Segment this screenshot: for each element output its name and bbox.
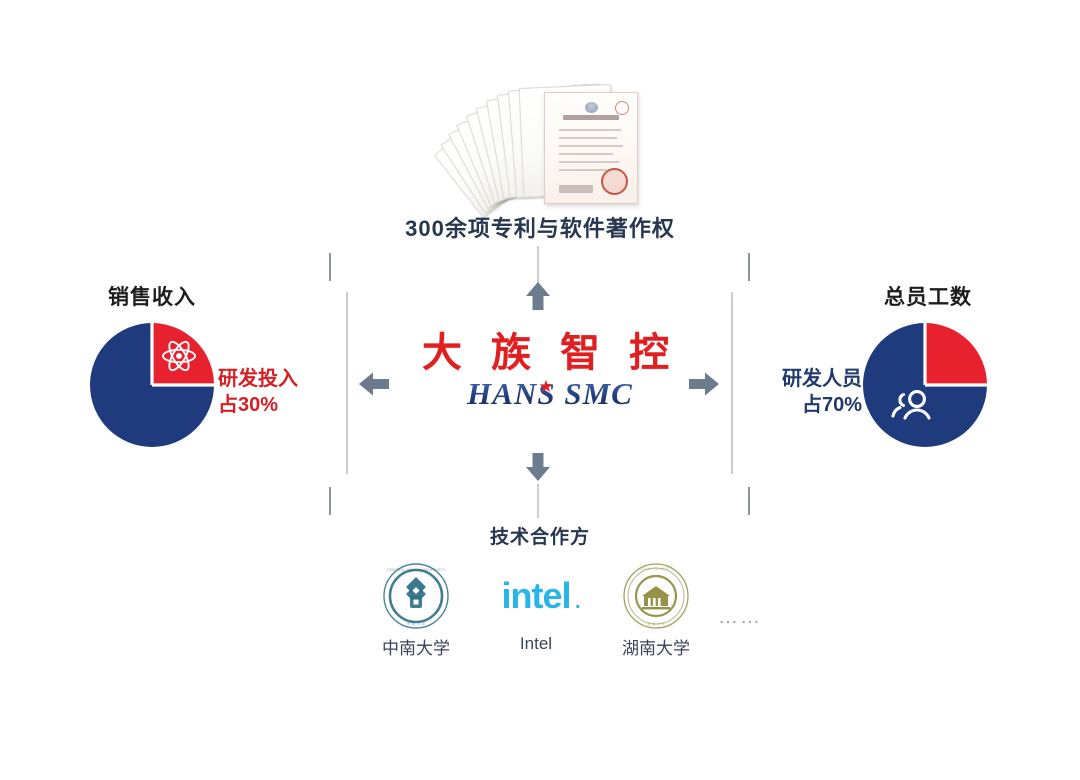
frame-line-top-center <box>537 246 539 284</box>
logo-english-name: HANS SMC ★ <box>400 376 700 416</box>
logo-english-left: HAN <box>467 376 537 411</box>
left-pie-annotation: 研发投入 占30% <box>218 366 298 419</box>
left-pie-title: 销售收入 <box>62 281 242 311</box>
certificate-emblem-icon <box>585 102 598 113</box>
partner-item-hnu[interactable]: HUNAN UNIVERSITY 湖 南 大 学 湖南大学 <box>606 560 706 659</box>
logo-chinese-name: 大 族 智 控 <box>400 332 700 374</box>
arrow-up-icon <box>524 281 552 311</box>
partner-name-hnu: 湖南大学 <box>606 634 706 659</box>
svg-text:中 南 大 学: 中 南 大 学 <box>406 620 425 626</box>
central-south-university-seal-icon: CENTRAL SOUTH UNIVERSITY 中 南 大 学 <box>366 560 466 632</box>
certificate-front-page <box>544 92 638 204</box>
pie-slice-rnd-investment <box>152 323 214 385</box>
partners-title: 技术合作方 <box>0 522 1080 549</box>
infographic-canvas: 300余项专利与软件著作权 大 族 智 控 HANS SMC ★ 销售收入 <box>0 0 1080 780</box>
frame-tick-top-left <box>329 253 331 281</box>
patents-title: 300余项专利与软件著作权 <box>0 211 1080 243</box>
svg-text:湖 南 大 学: 湖 南 大 学 <box>647 621 665 626</box>
frame-line-right <box>731 292 733 474</box>
frame-tick-bottom-left <box>329 487 331 515</box>
company-logo: 大 族 智 控 HANS SMC ★ <box>400 332 700 416</box>
certificate-red-seal-icon <box>601 168 628 195</box>
frame-line-left <box>346 292 348 474</box>
total-employees-pie-chart <box>861 321 989 449</box>
right-pie-annotation-line2: 占70% <box>752 392 862 418</box>
pie-slice-other-staff <box>925 323 987 385</box>
right-pie-annotation: 研发人员 占70% <box>752 366 862 419</box>
frame-tick-top-right <box>748 253 750 281</box>
intel-wordmark-icon: intel. <box>486 560 586 632</box>
partner-item-intel[interactable]: intel. Intel <box>486 560 586 654</box>
svg-text:CENTRAL SOUTH UNIVERSITY: CENTRAL SOUTH UNIVERSITY <box>387 567 446 572</box>
partner-name-csu: 中南大学 <box>366 634 466 659</box>
sales-revenue-pie-chart <box>88 321 216 449</box>
certificate-stack-icon <box>448 78 638 203</box>
arrow-down-icon <box>524 452 552 482</box>
partner-item-csu[interactable]: CENTRAL SOUTH UNIVERSITY 中 南 大 学 中南大学 <box>366 560 466 659</box>
frame-line-bottom-center <box>537 484 539 518</box>
logo-star-icon: ★ <box>538 378 553 395</box>
right-pie-title: 总员工数 <box>838 281 1018 311</box>
svg-text:HUNAN UNIVERSITY: HUNAN UNIVERSITY <box>638 567 674 571</box>
partner-list: CENTRAL SOUTH UNIVERSITY 中 南 大 学 中南大学 in… <box>350 560 770 670</box>
left-pie-annotation-line2: 占30% <box>218 392 298 418</box>
left-pie-annotation-line1: 研发投入 <box>218 366 298 392</box>
right-pie-annotation-line1: 研发人员 <box>752 366 862 392</box>
partners-ellipsis: …… <box>718 606 762 629</box>
arrow-left-icon <box>358 371 390 397</box>
frame-tick-bottom-right <box>748 487 750 515</box>
certificate-corner-seal-icon <box>615 101 629 115</box>
partner-name-intel: Intel <box>486 634 586 654</box>
hunan-university-seal-icon: HUNAN UNIVERSITY 湖 南 大 学 <box>606 560 706 632</box>
